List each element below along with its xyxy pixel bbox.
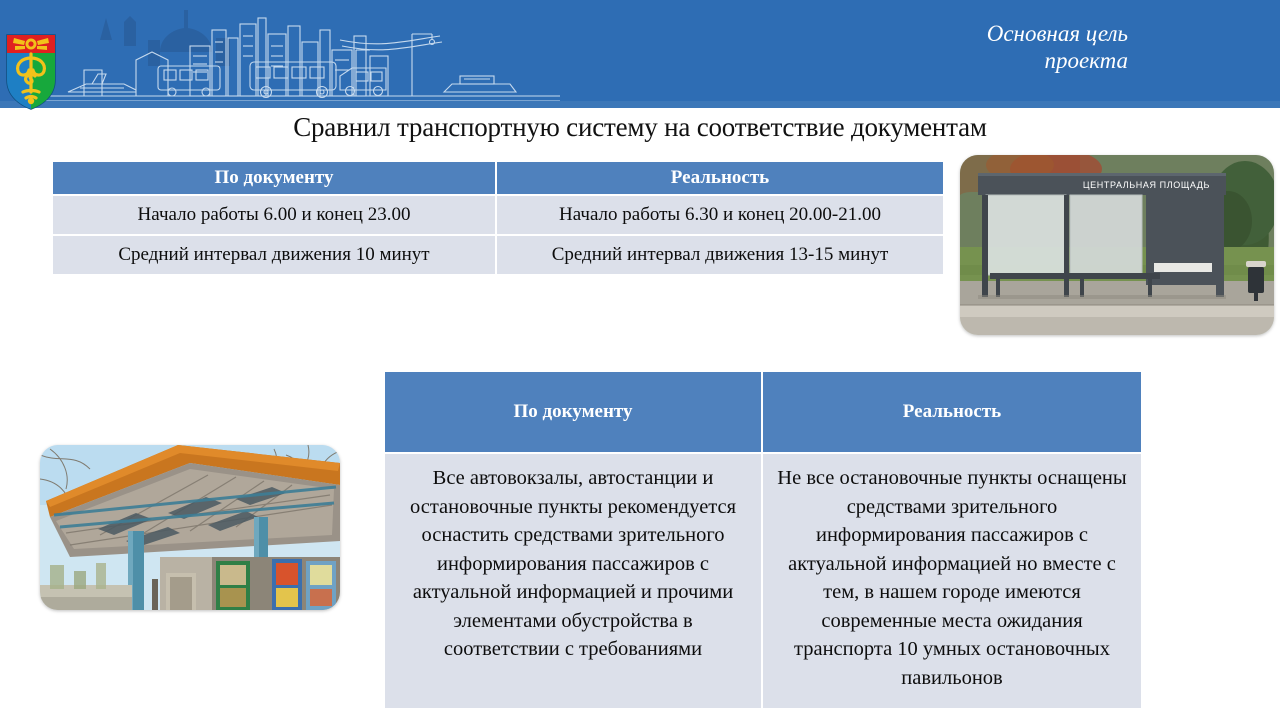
column-header-reality: Реальность — [763, 372, 1141, 452]
column-header-reality: Реальность — [497, 162, 943, 194]
column-header-document: По документу — [385, 372, 761, 452]
header-title: Основная цель проекта — [708, 20, 1128, 74]
cell-reality-equipment: Не все остановочные пункты оснащены сред… — [763, 454, 1141, 708]
cell-document-hours: Начало работы 6.00 и конец 23.00 — [53, 196, 495, 234]
coat-of-arms-icon — [6, 34, 56, 110]
column-header-document: По документу — [53, 162, 495, 194]
cell-reality-hours: Начало работы 6.30 и конец 20.00-21.00 — [497, 196, 943, 234]
equipment-comparison-table: По документу Реальность Все автовокзалы,… — [383, 370, 1143, 710]
page-title: Сравнил транспортную систему на соответс… — [0, 112, 1280, 143]
old-bus-station-canopy-photo — [40, 445, 340, 610]
cell-document-interval: Средний интервал движения 10 минут — [53, 236, 495, 274]
modern-bus-stop-photo: ЦЕНТРАЛЬНАЯ ПЛОЩАДЬ — [960, 155, 1274, 335]
header-title-line-1: Основная цель — [708, 20, 1128, 47]
modern-bus-stop-illustration: ЦЕНТРАЛЬНАЯ ПЛОЩАДЬ — [960, 155, 1274, 335]
old-bus-station-illustration — [40, 445, 340, 610]
header-title-line-2: проекта — [708, 47, 1128, 74]
table-row: Средний интервал движения 10 минут Средн… — [53, 236, 943, 274]
schedule-comparison-table: По документу Реальность Начало работы 6.… — [51, 160, 945, 276]
cell-reality-interval: Средний интервал движения 13-15 минут — [497, 236, 943, 274]
table-row: Начало работы 6.00 и конец 23.00 Начало … — [53, 196, 943, 234]
table-header-row: По документу Реальность — [53, 162, 943, 194]
table-header-row: По документу Реальность — [385, 372, 1141, 452]
city-skyline-graphic — [40, 0, 560, 108]
header-banner: Основная цель проекта — [0, 0, 1280, 108]
header-bottom-band — [0, 101, 1280, 108]
table-row: Все автовокзалы, автостанции и остановоч… — [385, 454, 1141, 708]
cell-document-equipment: Все автовокзалы, автостанции и остановоч… — [385, 454, 761, 708]
bus-stop-sign-text: ЦЕНТРАЛЬНАЯ ПЛОЩАДЬ — [1083, 180, 1210, 190]
